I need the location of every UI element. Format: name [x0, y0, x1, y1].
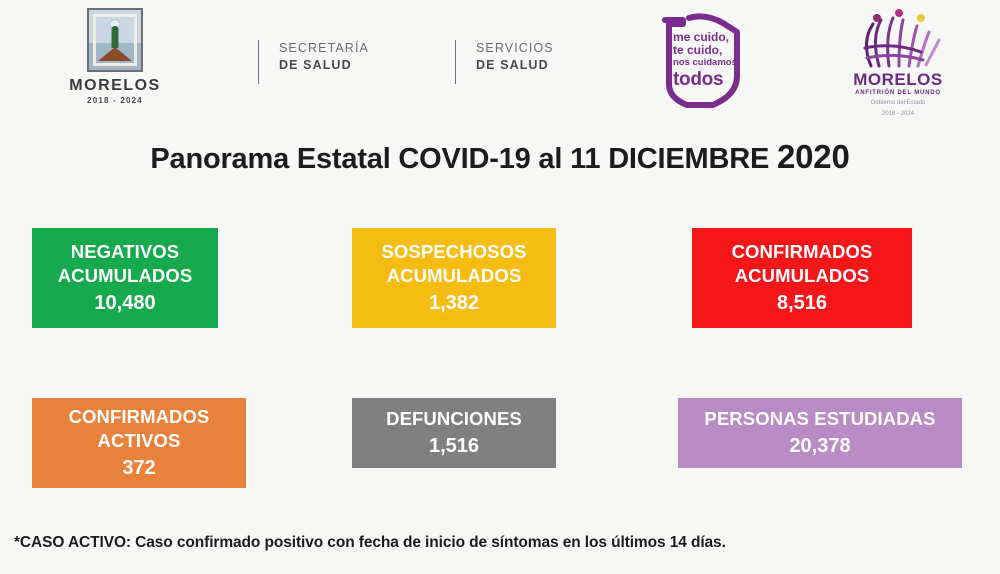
stat-label-line1: CONFIRMADOS [732, 240, 873, 264]
stat-label-line2: ACTIVOS [98, 429, 181, 453]
servicios-line1: SERVICIOS [476, 40, 554, 57]
page-title-year: 2020 [777, 138, 850, 175]
campaign-text: me cuido, te cuido, nos cuidamos todos [673, 31, 747, 90]
page-title: Panorama Estatal COVID-19 al 11 DICIEMBR… [0, 138, 1000, 176]
campaign-line4: todos [673, 69, 747, 90]
servicios-line2: DE SALUD [476, 57, 554, 74]
servicios-de-salud-logo: SERVICIOS DE SALUD [455, 40, 554, 84]
secretaria-line1: SECRETARÍA [279, 40, 369, 57]
stat-value: 1,382 [429, 290, 479, 316]
stat-value: 1,516 [429, 433, 479, 459]
morelos-flower-logo-icon [851, 8, 945, 70]
stat-label-line1: SOSPECHOSOS [381, 240, 526, 264]
anfitrion-subtitle: ANFITRIÓN DEL MUNDO [838, 90, 958, 96]
stat-label-line1: PERSONAS ESTUDIADAS [704, 407, 935, 431]
campaign-shield-badge: me cuido, te cuido, nos cuidamos todos [653, 10, 749, 110]
secretaria-de-salud-logo: SECRETARÍA DE SALUD [258, 40, 369, 84]
stat-label-line1: NEGATIVOS [71, 240, 180, 264]
stat-label-line2: ACUMULADOS [735, 264, 870, 288]
stat-label-line1: CONFIRMADOS [69, 405, 210, 429]
secretaria-line2: DE SALUD [279, 57, 369, 74]
stat-value: 372 [122, 455, 155, 481]
page-title-main: Panorama Estatal COVID-19 al 11 DICIEMBR… [150, 143, 777, 175]
stat-value: 10,480 [94, 290, 155, 316]
campaign-line3: nos cuidamos [673, 58, 747, 69]
campaign-line1: me cuido, [673, 31, 747, 44]
stat-card-confirmados-activos: CONFIRMADOS ACTIVOS 372 [32, 398, 246, 488]
stat-card-personas-estudiadas: PERSONAS ESTUDIADAS 20,378 [678, 398, 962, 468]
stat-card-defunciones: DEFUNCIONES 1,516 [352, 398, 556, 468]
stat-label-line2: ACUMULADOS [387, 264, 522, 288]
morelos-coat-of-arms-icon [87, 8, 143, 72]
stat-card-confirmados-acumulados: CONFIRMADOS ACUMULADOS 8,516 [692, 228, 912, 328]
coat-period: 2018 - 2024 [60, 96, 170, 105]
house-icon [98, 47, 132, 61]
anfitrion-government: Gobierno del Estado [838, 99, 958, 107]
morelos-anfitrion-logo: MORELOS ANFITRIÓN DEL MUNDO Gobierno del… [838, 8, 958, 118]
anfitrion-name: MORELOS [838, 71, 958, 88]
stat-card-sospechosos: SOSPECHOSOS ACUMULADOS 1,382 [352, 228, 556, 328]
campaign-line2: te cuido, [673, 44, 747, 57]
anfitrion-period: 2018 - 2024 [838, 110, 958, 118]
stat-value: 20,378 [789, 433, 850, 459]
stat-card-negativos: NEGATIVOS ACUMULADOS 10,480 [32, 228, 218, 328]
header-bar: MORELOS 2018 - 2024 SECRETARÍA DE SALUD … [0, 0, 1000, 120]
morelos-coat-of-arms-logo: MORELOS 2018 - 2024 [60, 8, 170, 105]
tree-icon [112, 26, 119, 48]
footnote-caso-activo: *CASO ACTIVO: Caso confirmado positivo c… [14, 534, 726, 552]
stat-value: 8,516 [777, 290, 827, 316]
stat-label-line1: DEFUNCIONES [386, 407, 522, 431]
stat-label-line2: ACUMULADOS [58, 264, 193, 288]
coat-state-name: MORELOS [60, 77, 170, 95]
